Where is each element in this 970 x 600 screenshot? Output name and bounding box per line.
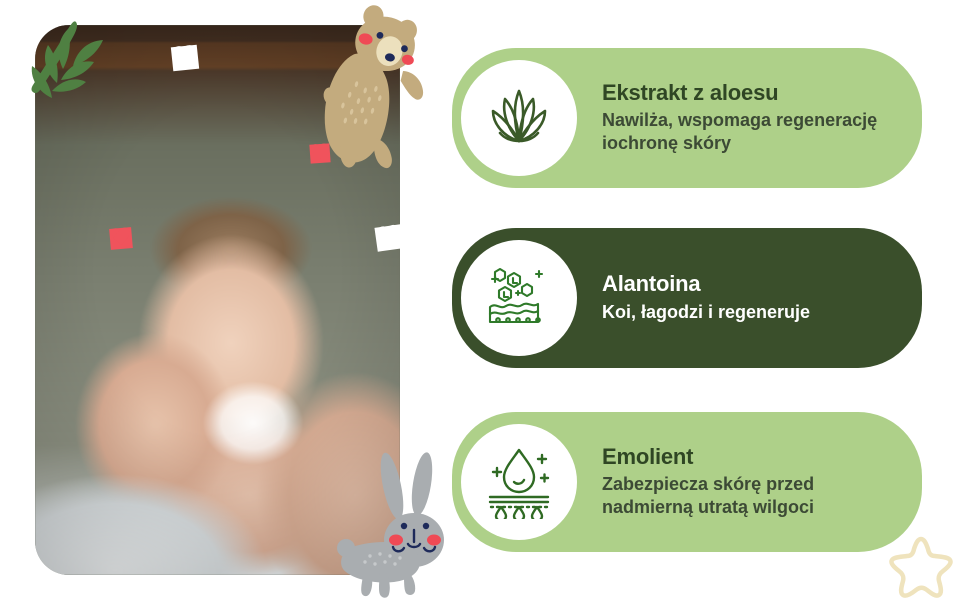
card-title: Alantoina [602, 272, 810, 297]
card-description: Zabezpiecza skórę przed nadmierną utratą… [602, 473, 904, 519]
benefit-card-alantoina[interactable]: Alantoina Koi, łagodzi i regeneruje [452, 228, 922, 368]
icon-badge [461, 60, 577, 176]
skin-layer-molecules-icon [480, 257, 558, 340]
bunny-icon [330, 452, 472, 600]
card-description: Nawilża, wspomaga regenerację iochronę s… [602, 109, 904, 155]
card-title: Ekstrakt z aloesu [602, 81, 904, 106]
leaf-icon [8, 6, 120, 121]
icon-badge [461, 424, 577, 540]
card-text: Emolient Zabezpiecza skórę przed nadmier… [577, 445, 922, 520]
icon-badge [461, 240, 577, 356]
benefit-card-aloes[interactable]: Ekstrakt z aloesu Nawilża, wspomaga rege… [452, 48, 922, 188]
benefit-card-emolient[interactable]: Emolient Zabezpiecza skórę przed nadmier… [452, 412, 922, 552]
aloe-vera-icon [480, 77, 558, 160]
heart-icon [171, 45, 199, 72]
bear-icon [312, 2, 432, 179]
card-description: Koi, łagodzi i regeneruje [602, 301, 810, 324]
card-text: Alantoina Koi, łagodzi i regeneruje [577, 272, 828, 324]
heart-icon [374, 224, 403, 251]
card-text: Ekstrakt z aloesu Nawilża, wspomaga rege… [577, 81, 922, 156]
water-drop-skin-barrier-icon [480, 441, 558, 524]
infographic-canvas: Ekstrakt z aloesu Nawilża, wspomaga rege… [0, 0, 970, 600]
benefit-card-list: Ekstrakt z aloesu Nawilża, wspomaga rege… [452, 0, 924, 600]
heart-icon [109, 227, 133, 250]
card-title: Emolient [602, 445, 904, 470]
